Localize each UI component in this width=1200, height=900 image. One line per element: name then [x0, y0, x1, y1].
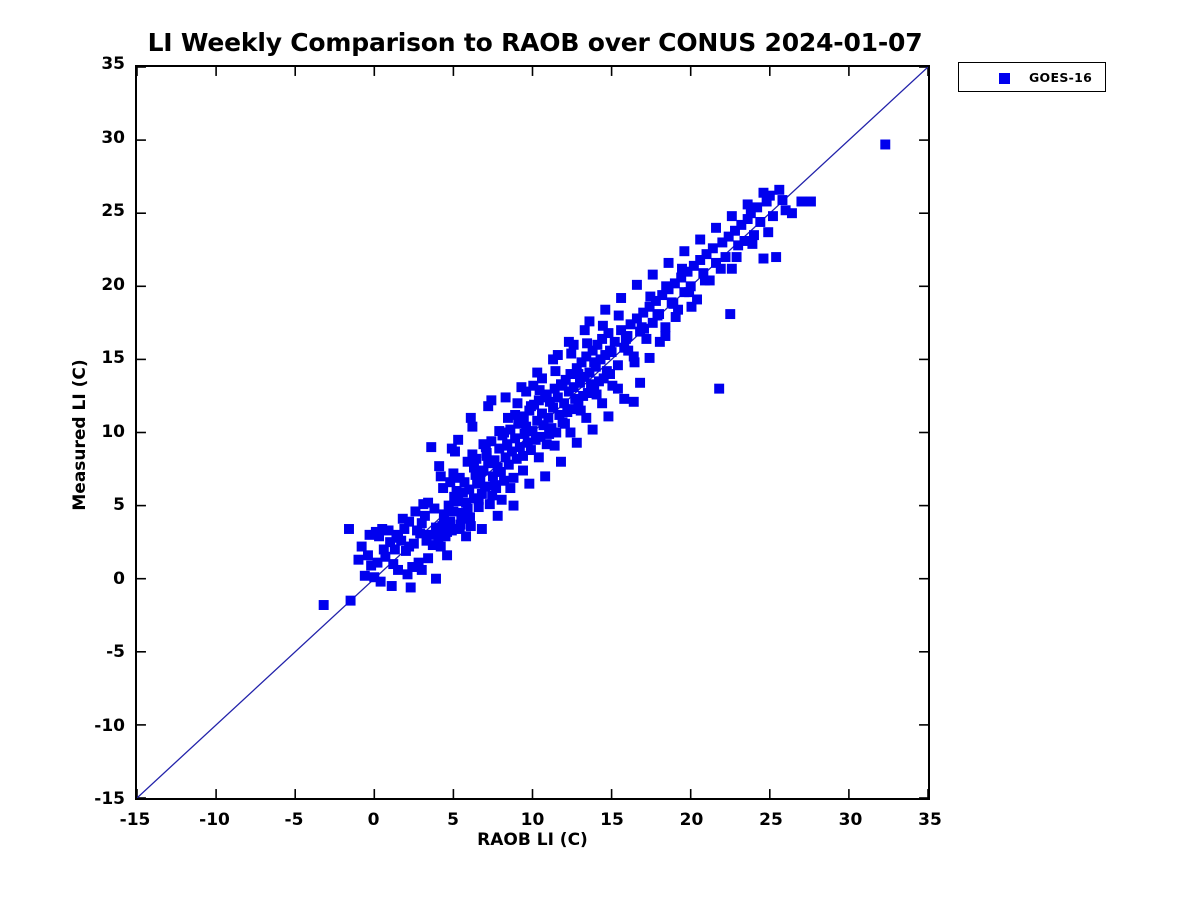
data-point — [393, 565, 403, 575]
data-point — [880, 140, 890, 150]
data-point — [556, 457, 566, 467]
data-point — [482, 451, 492, 461]
data-point — [711, 223, 721, 233]
data-point — [505, 483, 515, 493]
data-point — [404, 542, 414, 552]
data-point — [584, 316, 594, 326]
plot-area — [135, 65, 930, 800]
data-point — [458, 508, 468, 518]
data-point — [477, 524, 487, 534]
data-point — [379, 544, 389, 554]
data-point — [565, 428, 575, 438]
data-point — [467, 422, 477, 432]
data-point — [469, 463, 479, 473]
data-point — [684, 287, 694, 297]
data-point — [417, 565, 427, 575]
data-point — [466, 521, 476, 531]
data-point — [727, 264, 737, 274]
data-point — [758, 254, 768, 264]
data-point — [543, 413, 553, 423]
y-tick-label: 20 — [77, 275, 125, 295]
data-point — [660, 322, 670, 332]
data-point — [365, 530, 375, 540]
data-point — [714, 384, 724, 394]
y-tick-label: 30 — [77, 128, 125, 148]
chart-figure: LI Weekly Comparison to RAOB over CONUS … — [0, 0, 1200, 900]
data-point — [471, 454, 481, 464]
y-tick-label: -15 — [77, 789, 125, 809]
data-point — [725, 309, 735, 319]
data-point — [537, 373, 547, 383]
data-point — [787, 208, 797, 218]
data-point — [716, 264, 726, 274]
data-point — [436, 471, 446, 481]
data-point — [406, 582, 416, 592]
data-point — [660, 331, 670, 341]
legend-swatch-goes16 — [999, 73, 1010, 84]
data-point — [420, 511, 430, 521]
data-point — [645, 353, 655, 363]
data-point — [434, 461, 444, 471]
x-tick-label: -10 — [180, 810, 250, 830]
data-point — [487, 490, 497, 500]
data-point — [344, 524, 354, 534]
data-point — [569, 340, 579, 350]
data-point — [486, 395, 496, 405]
data-point — [573, 369, 583, 379]
data-point — [677, 264, 687, 274]
data-point — [605, 346, 615, 356]
data-point — [623, 346, 633, 356]
data-point — [550, 366, 560, 376]
data-point — [560, 419, 570, 429]
data-point — [635, 378, 645, 388]
x-tick-label: -15 — [100, 810, 170, 830]
data-point — [558, 381, 568, 391]
data-point — [605, 369, 615, 379]
y-tick-label: -5 — [77, 642, 125, 662]
data-point — [619, 394, 629, 404]
data-point — [582, 338, 592, 348]
data-point — [597, 398, 607, 408]
data-point — [526, 401, 536, 411]
data-point — [466, 413, 476, 423]
data-point — [376, 577, 386, 587]
data-point — [588, 425, 598, 435]
data-point — [732, 252, 742, 262]
data-point — [423, 553, 433, 563]
data-point — [431, 574, 441, 584]
data-point — [509, 501, 519, 511]
data-point — [747, 239, 757, 249]
data-point — [566, 349, 576, 359]
y-axis-title: Measured LI (C) — [70, 335, 90, 535]
data-point — [603, 411, 613, 421]
data-point — [474, 495, 484, 505]
data-point — [632, 280, 642, 290]
legend-label-goes16: GOES-16 — [1029, 70, 1092, 85]
data-point — [679, 246, 689, 256]
data-point — [509, 473, 519, 483]
data-point — [645, 292, 655, 302]
data-point — [755, 217, 765, 227]
data-point — [774, 185, 784, 195]
x-tick-label: 10 — [498, 810, 568, 830]
page-title: LI Weekly Comparison to RAOB over CONUS … — [0, 28, 1070, 57]
data-point — [687, 302, 697, 312]
data-point — [360, 571, 370, 581]
data-point — [490, 480, 500, 490]
data-point — [629, 397, 639, 407]
data-point — [442, 550, 452, 560]
data-point — [512, 398, 522, 408]
data-point — [357, 542, 367, 552]
y-tick-label: -10 — [77, 716, 125, 736]
data-point — [534, 452, 544, 462]
data-point — [426, 442, 436, 452]
data-point — [398, 514, 408, 524]
data-point — [387, 581, 397, 591]
data-point — [497, 495, 507, 505]
data-point — [455, 473, 465, 483]
data-point — [410, 506, 420, 516]
data-point — [763, 227, 773, 237]
y-tick-label: 0 — [77, 569, 125, 589]
data-point — [524, 479, 534, 489]
data-point — [494, 426, 504, 436]
x-tick-label: 20 — [657, 810, 727, 830]
data-point — [598, 321, 608, 331]
data-point — [372, 558, 382, 568]
data-point — [613, 384, 623, 394]
data-point — [572, 438, 582, 448]
data-point — [501, 392, 511, 402]
data-point — [600, 305, 610, 315]
data-point — [449, 492, 459, 502]
data-point — [346, 596, 356, 606]
data-point — [433, 533, 443, 543]
data-point — [743, 199, 753, 209]
y-tick-label: 25 — [77, 201, 125, 221]
data-point — [544, 429, 554, 439]
x-tick-label: 15 — [577, 810, 647, 830]
series-goes-16 — [319, 140, 891, 610]
x-axis-title: RAOB LI (C) — [135, 830, 930, 850]
data-point — [521, 387, 531, 397]
data-point — [613, 360, 623, 370]
data-point — [478, 439, 488, 449]
x-tick-label: 0 — [339, 810, 409, 830]
data-point — [363, 550, 373, 560]
x-tick-label: 35 — [895, 810, 965, 830]
data-point — [445, 477, 455, 487]
data-point — [641, 334, 651, 344]
data-point — [519, 414, 529, 424]
data-point — [485, 499, 495, 509]
data-point — [461, 531, 471, 541]
data-point — [436, 542, 446, 552]
data-point — [653, 311, 663, 321]
x-tick-label: 5 — [418, 810, 488, 830]
data-point — [493, 511, 503, 521]
data-point — [447, 444, 457, 454]
scatter-plot-svg — [137, 67, 928, 798]
data-point — [453, 435, 463, 445]
data-point — [456, 520, 466, 530]
data-point — [664, 258, 674, 268]
data-point — [749, 230, 759, 240]
data-point — [771, 252, 781, 262]
data-point — [758, 188, 768, 198]
x-tick-label: -5 — [259, 810, 329, 830]
data-point — [540, 471, 550, 481]
data-point — [661, 281, 671, 291]
data-point — [777, 195, 787, 205]
data-point — [721, 252, 731, 262]
data-point — [796, 197, 806, 207]
data-point — [806, 197, 816, 207]
data-point — [550, 441, 560, 451]
data-point — [695, 235, 705, 245]
data-point — [580, 325, 590, 335]
data-point — [616, 293, 626, 303]
data-point — [592, 390, 602, 400]
data-point — [553, 350, 563, 360]
data-point — [671, 312, 681, 322]
data-point — [589, 357, 599, 367]
data-point — [727, 211, 737, 221]
legend[interactable]: GOES-16 — [958, 62, 1106, 92]
data-point — [439, 515, 449, 525]
data-point — [354, 555, 364, 565]
data-point — [621, 334, 631, 344]
data-point — [391, 533, 401, 543]
data-point — [637, 322, 647, 332]
data-point — [630, 357, 640, 367]
data-point — [668, 299, 678, 309]
data-point — [610, 337, 620, 347]
x-tick-label: 30 — [816, 810, 886, 830]
data-point — [518, 466, 528, 476]
data-point — [614, 311, 624, 321]
data-point — [542, 392, 552, 402]
data-point — [480, 482, 490, 492]
data-point — [581, 413, 591, 423]
data-point — [648, 270, 658, 280]
data-point — [768, 211, 778, 221]
data-point — [708, 243, 718, 253]
data-point — [752, 202, 762, 212]
data-point — [429, 504, 439, 514]
data-point — [502, 439, 512, 449]
data-point — [319, 600, 329, 610]
y-tick-label: 35 — [77, 54, 125, 74]
data-point — [700, 275, 710, 285]
x-tick-label: 25 — [736, 810, 806, 830]
data-point — [510, 410, 520, 420]
